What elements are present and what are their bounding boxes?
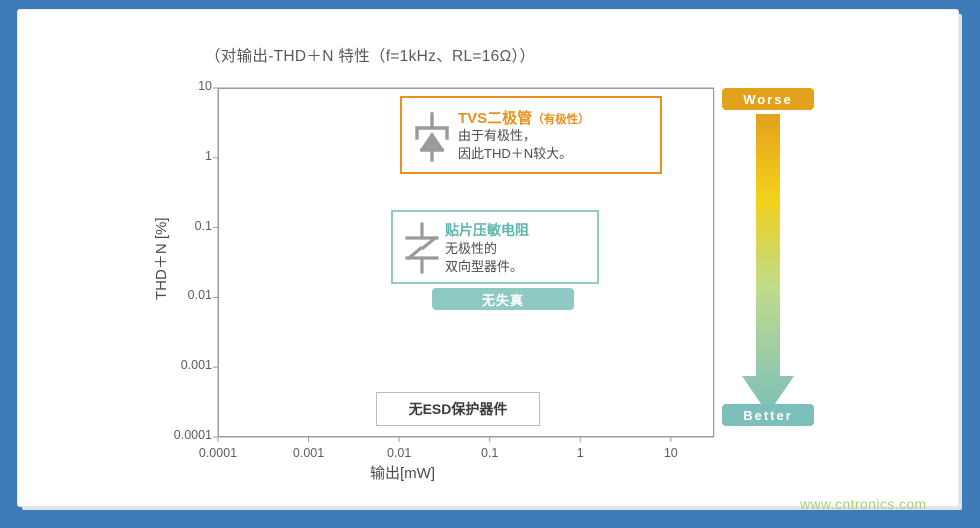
x-tick-label: 10	[631, 446, 711, 460]
callout-tvs-body-line1: 由于有极性，	[458, 128, 536, 144]
x-tick-label: 0.01	[359, 446, 439, 460]
gradient-arrow-icon	[722, 88, 832, 438]
callout-tvs-title-suffix: （有极性）	[532, 114, 590, 126]
callout-chip-varistor: 贴片压敏电阻 无极性的 双向型器件。	[391, 210, 599, 284]
callout-tvs-body-line2: 因此THD＋N较大。	[458, 146, 572, 162]
callout-no-esd-label: 无ESD保护器件	[409, 399, 508, 419]
tvs-diode-symbol-icon	[408, 108, 456, 166]
x-tick-label: 0.1	[450, 446, 530, 460]
worse-better-gauge: Worse Better	[722, 88, 832, 438]
y-axis-title-wrap: THD＋N [%]	[156, 88, 186, 437]
y-axis-title: THD＋N [%]	[150, 100, 171, 300]
callout-varistor-body-line1: 无极性的	[445, 241, 497, 257]
x-axis-title: 输出[mW]	[370, 462, 435, 483]
site-watermark: www.cntronics.com	[800, 496, 927, 512]
callout-varistor-body-line2: 双向型器件。	[445, 259, 523, 275]
outer-frame: （对输出-THD＋N 特性（f=1kHz、RL=16Ω）） 1010.10.01…	[0, 0, 980, 528]
callout-varistor-title: 贴片压敏电阻	[445, 220, 529, 240]
x-tick-label: 0.001	[269, 446, 349, 460]
varistor-symbol-icon	[399, 220, 445, 278]
x-tick-label: 1	[540, 446, 620, 460]
badge-no-distortion: 无失真	[432, 288, 574, 310]
x-tick-label: 0.0001	[178, 446, 258, 460]
badge-worse: Worse	[722, 88, 814, 110]
callout-tvs-title: TVS二极管	[458, 110, 532, 127]
callout-no-esd-device: 无ESD保护器件	[376, 392, 540, 426]
callout-tvs-diode: TVS二极管（有极性） 由于有极性， 因此THD＋N较大。	[400, 96, 662, 174]
badge-better: Better	[722, 404, 814, 426]
